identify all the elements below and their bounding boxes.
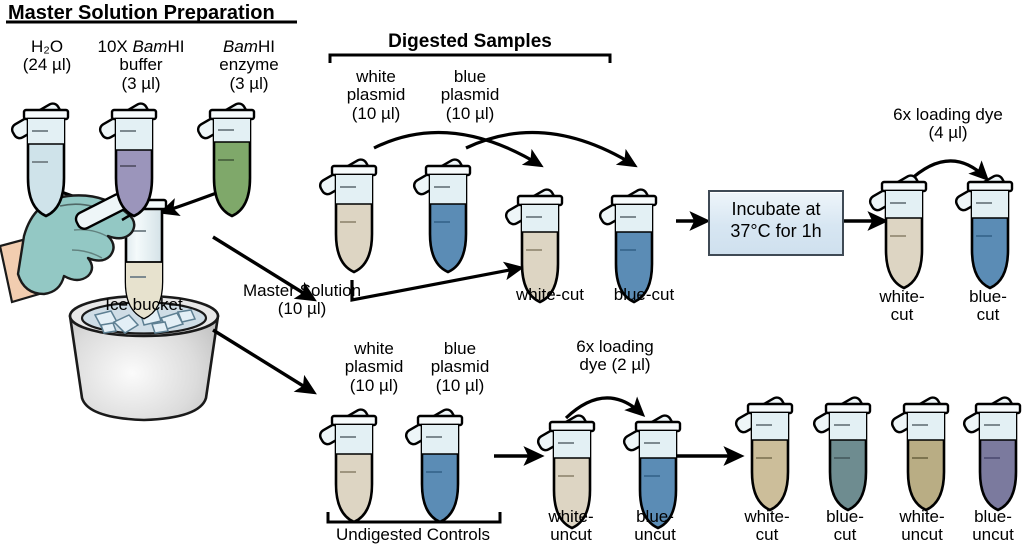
label-undigested-controls: Undigested Controls <box>318 526 508 544</box>
label-final-white-uncut: white- uncut <box>882 508 962 545</box>
label-blue-plasmid-digested: blue plasmid (10 µl) <box>424 68 516 123</box>
label-blue-plasmid-undigested: blue plasmid (10 µl) <box>414 340 506 395</box>
arrow-white-plasmid-to-white-cut <box>374 132 540 165</box>
bracket-undigested <box>328 512 500 522</box>
label-final-blue-cut: blue- cut <box>812 508 878 545</box>
arrow-dye-bottom <box>566 398 642 418</box>
arrow-dye-top <box>908 161 986 182</box>
label-blue-uncut: blue- uncut <box>616 508 694 545</box>
label-white-plasmid-digested: white plasmid (10 µl) <box>330 68 422 123</box>
arrow-master-to-undigested <box>213 330 313 392</box>
label-blue-cut: blue-cut <box>598 286 690 304</box>
incubate-label: Incubate at 37°C for 1h <box>710 192 842 249</box>
label-final-white-cut-top: white- cut <box>862 288 942 325</box>
label-white-uncut: white- uncut <box>530 508 612 545</box>
label-bamhi-enzyme: BamHIenzyme(3 µl) <box>196 38 302 93</box>
label-loading-dye-bottom: 6x loading dye (2 µl) <box>546 338 684 375</box>
arrow-blue-plasmid-to-blue-cut <box>466 132 634 165</box>
label-h2o: H₂O (24 µl) <box>4 38 90 75</box>
gloved-hand <box>0 192 134 302</box>
incubate-step-box: Incubate at 37°C for 1h <box>708 190 844 256</box>
label-bamhi-buffer: 10X BamHIbuffer(3 µl) <box>86 38 196 93</box>
enzyme-line1: BamHI <box>223 37 275 56</box>
label-final-blue-uncut: blue- uncut <box>960 508 1024 545</box>
bracket-digested <box>330 55 610 63</box>
section-title-digested: Digested Samples <box>370 32 570 53</box>
label-ice-bucket: Ice bucket <box>86 296 202 314</box>
figure-canvas: Master Solution Preparation <box>0 0 1024 559</box>
label-final-white-cut: white- cut <box>730 508 804 545</box>
label-white-plasmid-undigested: white plasmid (10 µl) <box>328 340 420 395</box>
label-final-blue-cut-top: blue- cut <box>952 288 1024 325</box>
label-master-solution: Master Solution (10 µl) <box>222 282 382 319</box>
buffer-line1: 10X BamHI <box>98 37 185 56</box>
label-loading-dye-top: 6x loading dye (4 µl) <box>872 106 1024 143</box>
label-white-cut: white-cut <box>498 286 602 304</box>
arrow-enzyme-to-master <box>163 185 238 212</box>
